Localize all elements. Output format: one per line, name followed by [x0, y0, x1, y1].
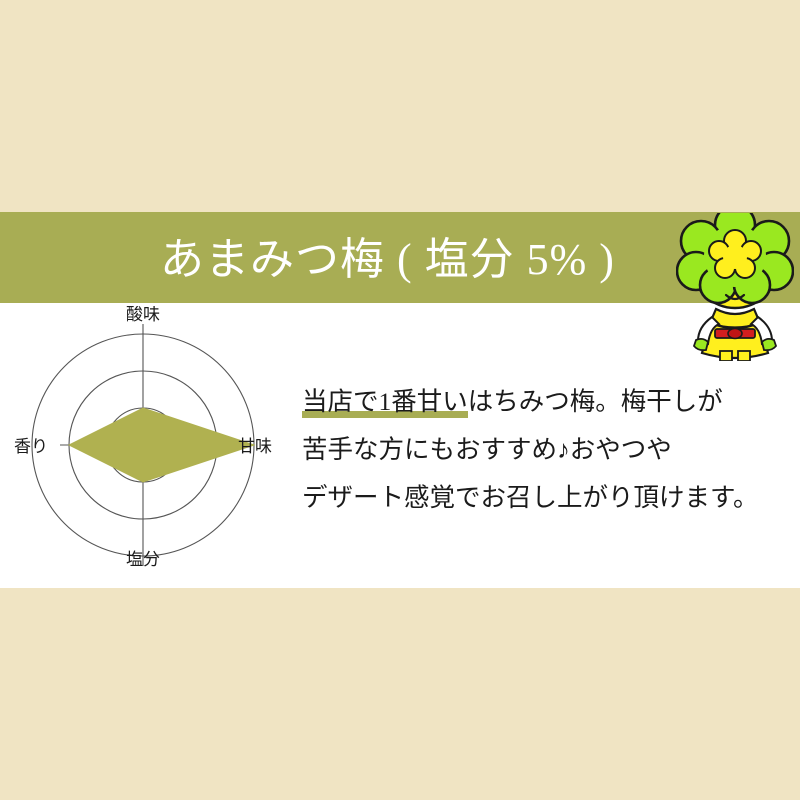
description-line-1-rest: はちみつ梅。梅干しが	[468, 387, 723, 416]
description-line-3: デザート感覚でお召し上がり頂けます。	[302, 474, 782, 522]
radar-data-polygon	[69, 408, 254, 482]
product-description: 当店で1番甘いはちみつ梅。梅干しが 苦手な方にもおすすめ♪おやつや デザート感覚…	[302, 378, 782, 522]
radar-label-left: 香り	[14, 437, 48, 456]
mascot-illustration	[676, 213, 794, 361]
radar-chart-svg: 酸味 甘味 塩分 香り	[8, 306, 288, 570]
description-line-1: 当店で1番甘いはちみつ梅。梅干しが	[302, 378, 782, 426]
page-title: あまみつ梅 ( 塩分 5% )	[160, 225, 680, 295]
radar-label-top: 酸味	[126, 306, 160, 324]
radar-label-bottom: 塩分	[126, 550, 160, 569]
description-line-2: 苦手な方にもおすすめ♪おやつや	[302, 426, 782, 474]
background-band-top	[0, 0, 800, 212]
description-highlight: 当店で1番甘い	[302, 387, 468, 418]
taste-radar-chart: 酸味 甘味 塩分 香り	[8, 306, 288, 570]
page-root: あまみつ梅 ( 塩分 5% )	[0, 0, 800, 800]
radar-label-right: 甘味	[238, 437, 272, 456]
background-band-bottom	[0, 588, 800, 800]
flower-character-icon	[676, 213, 794, 361]
